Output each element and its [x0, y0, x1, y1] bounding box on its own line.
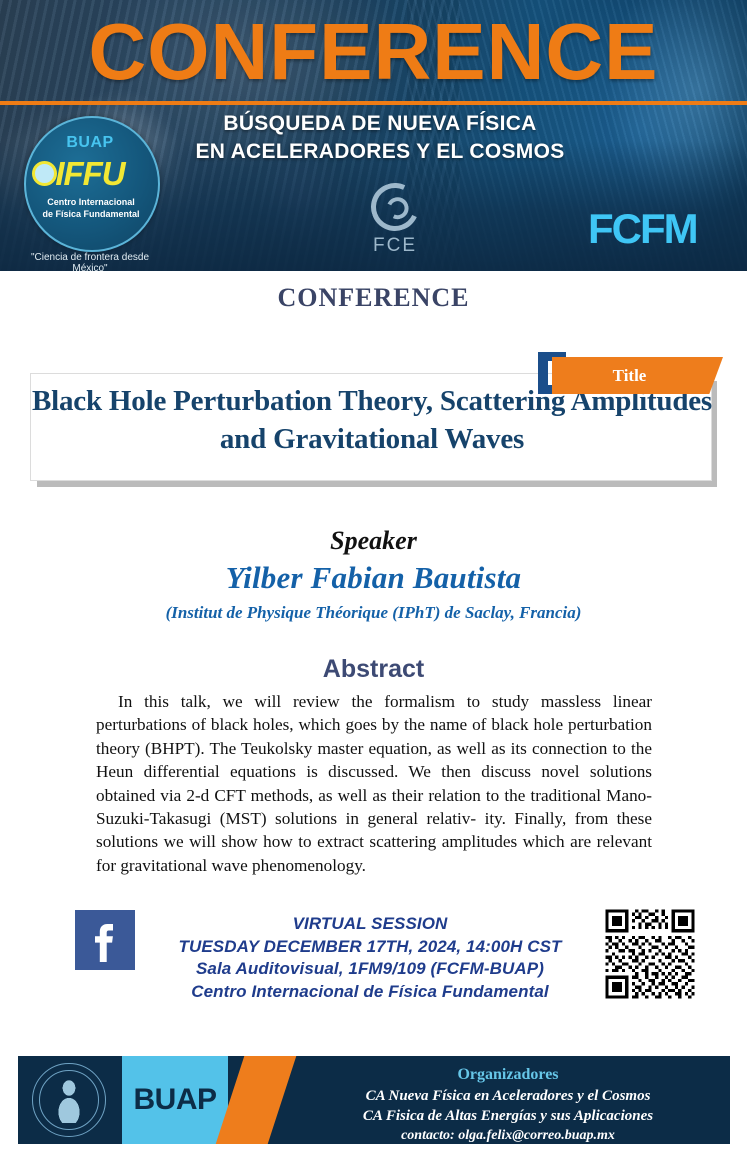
buap-wordmark-text: BUAP — [122, 1056, 228, 1144]
header-subtitle-line-1: BÚSQUEDA DE NUEVA FÍSICA — [120, 110, 640, 138]
speaker-name: Yilber Fabian Bautista — [0, 560, 747, 596]
buap-wordmark: BUAP — [122, 1056, 228, 1144]
ciffu-subtitle-line-2: de Física Fundamental — [26, 208, 156, 220]
organizers-contact: contacto: olga.felix@correo.buap.mx — [298, 1126, 718, 1144]
speaker-affiliation: (Institut de Physique Théorique (IPhT) d… — [0, 603, 747, 623]
organizers-block: Organizadores CA Nueva Física en Acelera… — [298, 1064, 718, 1144]
session-info: VIRTUAL SESSION TUESDAY DECEMBER 17TH, 2… — [150, 913, 590, 1003]
fce-logo-text: FCE — [350, 235, 440, 257]
header-subtitle-line-2: EN ACELERADORES Y EL COSMOS — [120, 138, 640, 166]
organizers-title: Organizadores — [298, 1064, 718, 1086]
ciffu-logo-acronym: IFFU — [16, 157, 164, 191]
fce-spiral-icon — [364, 176, 426, 238]
session-line-3: Sala Auditovisual, 1FM9/109 (FCFM-BUAP) — [150, 958, 590, 981]
abstract-heading: Abstract — [0, 655, 747, 684]
footer-bar: BUAP Organizadores CA Nueva Física en Ac… — [18, 1056, 730, 1144]
banner-title: CONFERENCE — [0, 6, 747, 98]
ciffu-logo: BUAP IFFU Centro Internacional de Física… — [16, 116, 164, 266]
speaker-label: Speaker — [0, 526, 747, 556]
fcfm-logo-text: FCFM — [588, 205, 697, 252]
header-subtitle: BÚSQUEDA DE NUEVA FÍSICA EN ACELERADORES… — [120, 110, 640, 166]
session-line-2: TUESDAY DECEMBER 17TH, 2024, 14:00H CST — [150, 936, 590, 959]
ciffu-logo-subtitle: Centro Internacional de Física Fundament… — [26, 196, 156, 220]
fcfm-logo: FCFM — [588, 207, 697, 251]
qr-code-icon[interactable] — [602, 906, 698, 1002]
header-banner: CONFERENCE BÚSQUEDA DE NUEVA FÍSICA EN A… — [0, 0, 747, 271]
ciffu-logo-tagline: "Ciencia de frontera desde México" — [16, 252, 164, 271]
organizers-line-1: CA Nueva Física en Aceleradores y el Cos… — [298, 1086, 718, 1106]
title-ribbon: Title — [538, 352, 723, 394]
buap-seal-icon — [32, 1063, 106, 1137]
facebook-icon[interactable] — [75, 910, 135, 970]
abstract-text: In this talk, we will review the formali… — [96, 690, 652, 877]
session-line-1: VIRTUAL SESSION — [150, 913, 590, 936]
ciffu-subtitle-line-1: Centro Internacional — [26, 196, 156, 208]
section-label-conference: CONFERENCE — [0, 283, 747, 313]
header-divider-rule — [0, 101, 747, 105]
ciffu-logo-buap-text: BUAP — [16, 134, 164, 152]
ribbon-label: Title — [552, 357, 707, 394]
organizers-line-2: CA Fisica de Altas Energías y sus Aplica… — [298, 1106, 718, 1126]
fce-logo: FCE — [350, 183, 440, 263]
session-line-4: Centro Internacional de Física Fundament… — [150, 981, 590, 1004]
seal-figure — [54, 1079, 84, 1123]
